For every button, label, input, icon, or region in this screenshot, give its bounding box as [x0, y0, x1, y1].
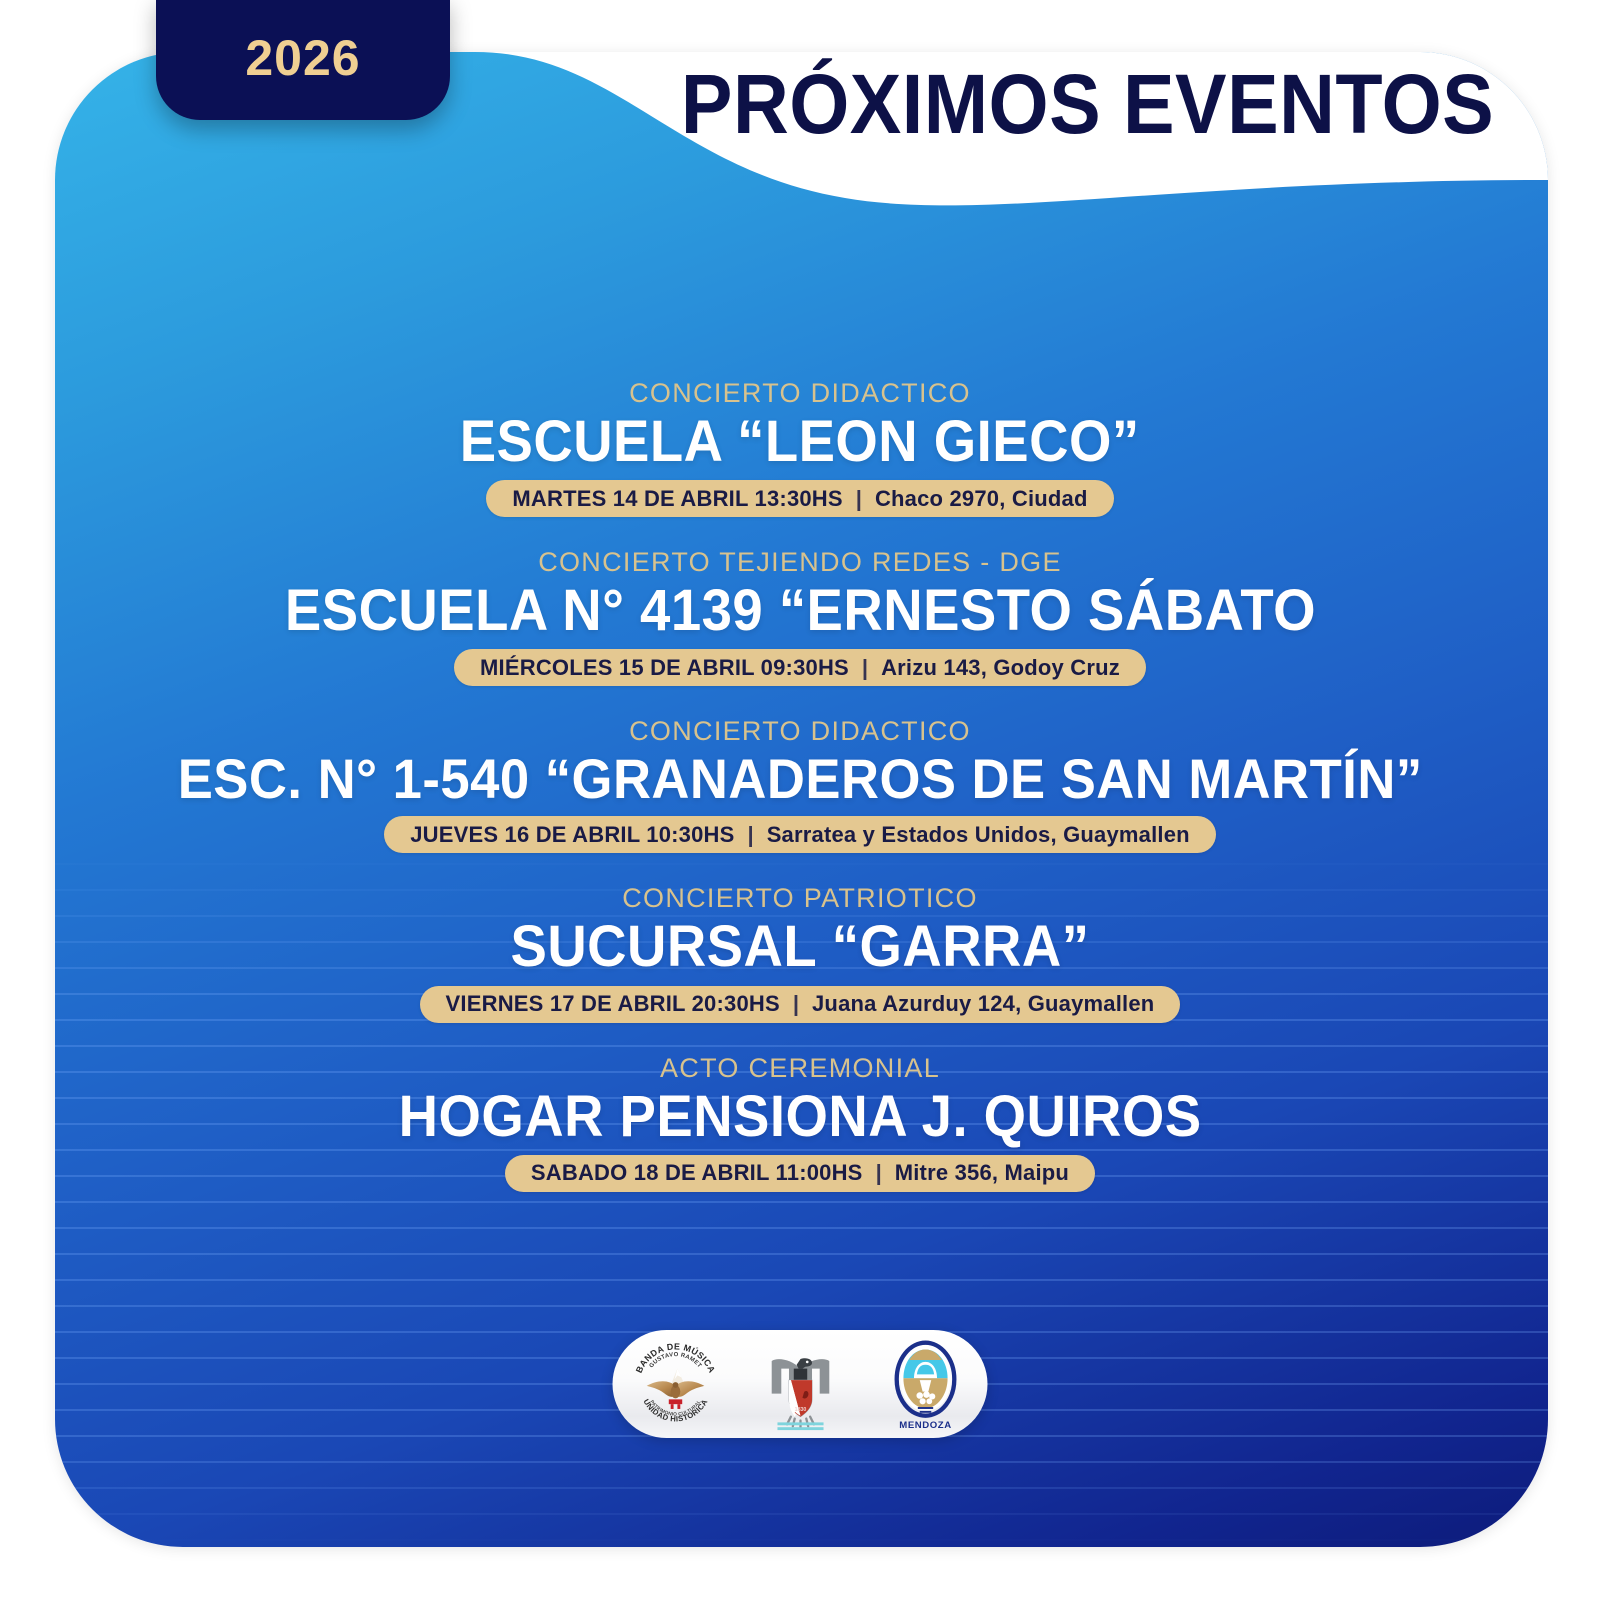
event-venue: Arizu 143, Godoy Cruz	[881, 655, 1120, 681]
event-venue: Chaco 2970, Ciudad	[875, 486, 1088, 512]
event-title: ESCUELA N° 4139 “ERNESTO SÁBATO	[284, 581, 1315, 640]
event-item: CONCIERTO DIDACTICO ESCUELA “LEON GIECO”…	[0, 378, 1600, 517]
event-venue: Mitre 356, Maipu	[895, 1160, 1069, 1186]
event-details-pill: MARTES 14 DE ABRIL 13:30HS | Chaco 2970,…	[486, 480, 1113, 517]
event-separator: |	[780, 991, 812, 1017]
event-category: CONCIERTO DIDACTICO	[629, 378, 971, 409]
svg-text:1830: 1830	[794, 1407, 806, 1413]
event-date: MIÉRCOLES 15 DE ABRIL 09:30HS	[480, 655, 849, 681]
event-venue: Juana Azurduy 124, Guaymallen	[812, 991, 1154, 1017]
event-item: CONCIERTO DIDACTICO ESC. N° 1-540 “GRANA…	[0, 716, 1600, 853]
page-title: PRÓXIMOS EVENTOS	[128, 56, 1600, 153]
event-details-pill: JUEVES 16 DE ABRIL 10:30HS | Sarratea y …	[384, 816, 1216, 853]
event-title: ESCUELA “LEON GIECO”	[460, 412, 1140, 471]
event-title: HOGAR PENSIONA J. QUIROS	[399, 1087, 1202, 1146]
gobierno-mendoza-label: MENDOZA	[899, 1420, 951, 1431]
event-item: ACTO CEREMONIAL HOGAR PENSIONA J. QUIROS…	[0, 1053, 1600, 1192]
event-item: CONCIERTO TEJIENDO REDES - DGE ESCUELA N…	[0, 547, 1600, 686]
event-date: MARTES 14 DE ABRIL 13:30HS	[512, 486, 842, 512]
logo-bar: BANDA DE MÚSICA GUSTAVO RAMET UNIDAD HIS…	[613, 1330, 988, 1438]
gobierno-mendoza-logo: MENDOZA	[877, 1336, 973, 1432]
event-date: VIERNES 17 DE ABRIL 20:30HS	[446, 991, 780, 1017]
mendoza-ciudad-escudo-logo: 1830	[752, 1336, 848, 1432]
event-separator: |	[735, 822, 767, 848]
event-title: SUCURSAL “GARRA”	[510, 917, 1089, 976]
event-separator: |	[849, 655, 881, 681]
event-title: ESC. N° 1-540 “GRANADEROS DE SAN MARTÍN”	[178, 750, 1423, 807]
event-separator: |	[843, 486, 875, 512]
event-date: SABADO 18 DE ABRIL 11:00HS	[531, 1160, 863, 1186]
event-category: ACTO CEREMONIAL	[660, 1053, 940, 1084]
event-separator: |	[863, 1160, 895, 1186]
event-details-pill: VIERNES 17 DE ABRIL 20:30HS | Juana Azur…	[420, 986, 1181, 1023]
event-details-pill: MIÉRCOLES 15 DE ABRIL 09:30HS | Arizu 14…	[454, 649, 1146, 686]
event-category: CONCIERTO DIDACTICO	[629, 716, 971, 747]
events-list: CONCIERTO DIDACTICO ESCUELA “LEON GIECO”…	[0, 378, 1600, 1192]
event-date: JUEVES 16 DE ABRIL 10:30HS	[410, 822, 734, 848]
event-category: CONCIERTO PATRIOTICO	[622, 883, 978, 914]
event-item: CONCIERTO PATRIOTICO SUCURSAL “GARRA” VI…	[0, 883, 1600, 1022]
event-venue: Sarratea y Estados Unidos, Guaymallen	[767, 822, 1190, 848]
banda-de-musica-logo: BANDA DE MÚSICA GUSTAVO RAMET UNIDAD HIS…	[627, 1336, 723, 1432]
event-details-pill: SABADO 18 DE ABRIL 11:00HS | Mitre 356, …	[505, 1155, 1095, 1192]
event-category: CONCIERTO TEJIENDO REDES - DGE	[538, 547, 1062, 578]
